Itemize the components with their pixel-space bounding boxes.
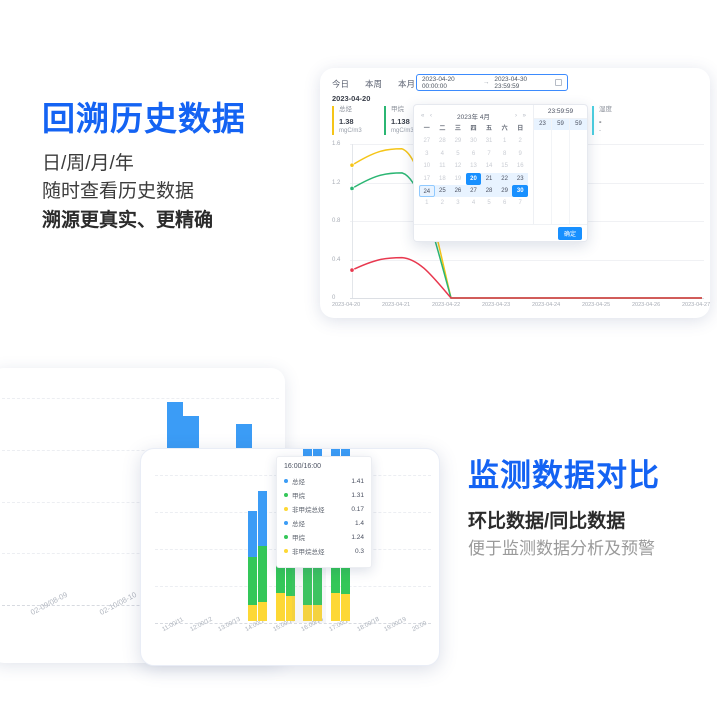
calendar-day[interactable]: 3	[450, 197, 466, 209]
series-color-dot	[284, 521, 288, 525]
calendar-day[interactable]: 28	[435, 135, 451, 147]
x-axis-tick: 13:00/13	[217, 616, 242, 633]
calendar-day[interactable]: 24	[419, 185, 435, 197]
x-axis-tick: 11:00/11	[161, 616, 185, 633]
gridline	[2, 398, 279, 399]
date-range-input[interactable]: 2023-04-20 00:00:00 → 2023-04-30 23:59:5…	[416, 74, 568, 91]
tooltip-series-name: 非甲烷总烃	[292, 504, 325, 514]
metric-name: 总烃	[339, 106, 384, 115]
top-subline-3: 溯源更真实、更精确	[42, 207, 246, 236]
bar-segment-非甲烷总烃	[331, 593, 340, 621]
next-month-icon[interactable]: ›	[515, 113, 517, 119]
prev-year-icon[interactable]: «	[421, 113, 424, 119]
calendar-day[interactable]: 7	[481, 148, 497, 160]
tooltip-series-name: 非甲烷总烃	[292, 546, 325, 556]
calendar-day[interactable]: 20	[466, 173, 482, 185]
calendar-day[interactable]: 8	[497, 148, 513, 160]
x-axis-tick: 20:00	[411, 620, 428, 633]
calendar-day[interactable]: 19	[450, 173, 466, 185]
calendar-day[interactable]: 27	[419, 135, 435, 147]
tooltip-series-value: 1.4	[355, 520, 364, 527]
date-range-picker-popup[interactable]: « ‹ 2023年 4月 › » 一二三四五六日2728293031123456…	[413, 104, 588, 242]
calendar-day[interactable]: 31	[481, 135, 497, 147]
calendar-weekday: 五	[481, 123, 497, 135]
tooltip-rows: 总烃1.41甲烷1.31非甲烷总烃0.17总烃1.4甲烷1.24非甲烷总烃0.3	[284, 474, 364, 558]
calendar-day[interactable]: 11	[435, 160, 451, 172]
bar-segment-非甲烷总烃	[258, 602, 267, 621]
bar-group-paired	[258, 491, 267, 621]
calendar-day[interactable]: 21	[481, 173, 497, 185]
metric-value: 1.38	[339, 117, 384, 127]
tooltip-row: 非甲烷总烃0.17	[284, 502, 364, 516]
calendar-day[interactable]: 13	[466, 160, 482, 172]
tooltip-series-name: 甲烷	[292, 532, 305, 542]
snapshot-date-label: 2023-04-20	[332, 94, 370, 103]
time-option[interactable]: 59	[552, 119, 569, 130]
series-color-dot	[284, 493, 288, 497]
bar-segment-非甲烷总烃	[341, 594, 350, 621]
series-color-dot	[284, 535, 288, 539]
calendar-weekday: 六	[497, 123, 513, 135]
calendar-icon[interactable]	[555, 79, 562, 86]
bar-segment-总烃	[248, 511, 257, 557]
tooltip-series-value: 1.31	[351, 492, 364, 499]
time-column[interactable]: 23	[534, 119, 552, 241]
x-axis-tick: 12:00/12	[189, 616, 214, 633]
tab-this-week[interactable]: 本周	[365, 78, 382, 90]
calendar-grid[interactable]: 一二三四五六日272829303112345678910111213141516…	[419, 123, 528, 210]
date-range-arrow: →	[483, 79, 490, 86]
top-text-block: 回溯历史数据 日/周/月/年 随时查看历史数据 溯源更真实、更精确	[42, 100, 246, 235]
bottom-subline-grey: 便于监测数据分析及预警	[468, 536, 660, 562]
next-year-icon[interactable]: »	[523, 113, 526, 119]
metric-value: -	[599, 117, 644, 127]
calendar-day[interactable]: 18	[435, 173, 451, 185]
bar-segment-非甲烷总烃	[276, 593, 285, 621]
tooltip-series-value: 0.17	[351, 506, 364, 513]
calendar-day[interactable]: 6	[466, 148, 482, 160]
calendar-day[interactable]: 5	[481, 197, 497, 209]
bar-segment-甲烷	[258, 546, 267, 603]
calendar-day[interactable]: 4	[435, 148, 451, 160]
datepicker-footer: 确定	[414, 224, 587, 241]
confirm-button[interactable]: 确定	[558, 227, 582, 240]
calendar-day[interactable]: 30	[512, 185, 528, 197]
series-color-dot	[284, 507, 288, 511]
calendar-day[interactable]: 9	[512, 148, 528, 160]
tooltip-row: 总烃1.4	[284, 516, 364, 530]
calendar-day[interactable]: 1	[419, 197, 435, 209]
tooltip-series-value: 1.41	[351, 478, 364, 485]
data-point-marker	[350, 186, 354, 190]
x-axis-tick: 02-10/08-10	[98, 590, 138, 617]
calendar-weekday: 三	[450, 123, 466, 135]
data-point-marker	[350, 163, 354, 167]
tooltip-series-value: 1.24	[351, 534, 364, 541]
line-series-非甲烷总烃	[352, 258, 702, 298]
series-color-dot	[284, 479, 288, 483]
calendar-pane: « ‹ 2023年 4月 › » 一二三四五六日2728293031123456…	[414, 105, 534, 241]
time-option[interactable]: 59	[570, 119, 587, 130]
calendar-day[interactable]: 28	[481, 185, 497, 197]
time-pane: 23:59:59 235959	[534, 105, 587, 241]
calendar-day[interactable]: 22	[497, 173, 513, 185]
tooltip-series-name: 甲烷	[292, 490, 305, 500]
prev-month-icon[interactable]: ‹	[430, 113, 432, 119]
calendar-weekday: 日	[512, 123, 528, 135]
calendar-day[interactable]: 16	[512, 160, 528, 172]
tooltip-title: 16:00/16:00	[284, 463, 364, 470]
calendar-weekday: 二	[435, 123, 451, 135]
metric-card: 湿度--	[592, 106, 644, 135]
calendar-day[interactable]: 15	[497, 160, 513, 172]
time-column[interactable]: 59	[552, 119, 570, 241]
tooltip-series-name: 总烃	[292, 476, 305, 486]
x-axis-tick: 18:00/18	[356, 616, 381, 633]
calendar-day[interactable]: 3	[419, 148, 435, 160]
top-subline-1: 日/周/月/年	[42, 150, 246, 179]
date-range-end: 2023-04-30 23:59:59	[494, 76, 550, 90]
calendar-day[interactable]: 2	[512, 135, 528, 147]
calendar-day[interactable]: 30	[466, 135, 482, 147]
chart-tooltip: 16:00/16:00 总烃1.41甲烷1.31非甲烷总烃0.17总烃1.4甲烷…	[276, 456, 372, 568]
tooltip-row: 总烃1.41	[284, 474, 364, 488]
calendar-day[interactable]: 29	[450, 135, 466, 147]
bar-group	[248, 511, 257, 621]
bar-segment-总烃	[258, 491, 267, 546]
calendar-day[interactable]: 14	[481, 160, 497, 172]
metric-card: 总烃1.38mgC/m3	[332, 106, 384, 135]
metric-unit: -	[599, 127, 644, 135]
time-header: 23:59:59	[534, 105, 587, 119]
metric-unit: mgC/m3	[339, 127, 384, 135]
bottom-subline-bold: 环比数据/同比数据	[468, 508, 660, 537]
calendar-day[interactable]: 6	[497, 197, 513, 209]
x-axis-tick: 19:00/19	[383, 616, 408, 633]
x-axis-tick: 02-09/08-09	[29, 590, 69, 617]
calendar-day[interactable]: 27	[466, 185, 482, 197]
tooltip-series-value: 0.3	[355, 548, 364, 555]
calendar-title: 2023年 4月	[457, 111, 490, 121]
tooltip-row: 甲烷1.24	[284, 530, 364, 544]
calendar-weekday: 四	[466, 123, 482, 135]
time-columns[interactable]: 235959	[534, 119, 587, 241]
calendar-day[interactable]: 4	[466, 197, 482, 209]
time-option[interactable]: 23	[534, 119, 551, 130]
calendar-day[interactable]: 26	[450, 185, 466, 197]
series-color-dot	[284, 549, 288, 553]
calendar-day[interactable]: 7	[512, 197, 528, 209]
tab-today[interactable]: 今日	[332, 78, 349, 90]
calendar-day[interactable]: 25	[435, 185, 451, 197]
top-subline-2: 随时查看历史数据	[42, 178, 246, 207]
data-point-marker	[350, 268, 354, 272]
tooltip-row: 非甲烷总烃0.3	[284, 544, 364, 558]
metric-name: 湿度	[599, 106, 644, 115]
calendar-day[interactable]: 12	[450, 160, 466, 172]
bar-segment-甲烷	[248, 557, 257, 605]
calendar-day[interactable]: 1	[497, 135, 513, 147]
calendar-day[interactable]: 23	[512, 173, 528, 185]
calendar-day[interactable]: 5	[450, 148, 466, 160]
date-range-start: 2023-04-20 00:00:00	[422, 76, 478, 90]
tooltip-series-name: 总烃	[292, 518, 305, 528]
bottom-text-block: 监测数据对比 环比数据/同比数据 便于监测数据分析及预警	[468, 458, 660, 562]
calendar-day[interactable]: 10	[419, 160, 435, 172]
calendar-header: « ‹ 2023年 4月 › »	[419, 109, 528, 123]
calendar-day[interactable]: 29	[497, 185, 513, 197]
bottom-headline: 监测数据对比	[468, 458, 660, 494]
tooltip-row: 甲烷1.31	[284, 488, 364, 502]
tab-this-month[interactable]: 本月	[398, 78, 415, 90]
time-column[interactable]: 59	[570, 119, 587, 241]
bar-segment-非甲烷总烃	[248, 605, 257, 621]
calendar-day[interactable]: 2	[435, 197, 451, 209]
calendar-weekday: 一	[419, 123, 435, 135]
calendar-day[interactable]: 17	[419, 173, 435, 185]
top-headline: 回溯历史数据	[42, 100, 246, 138]
